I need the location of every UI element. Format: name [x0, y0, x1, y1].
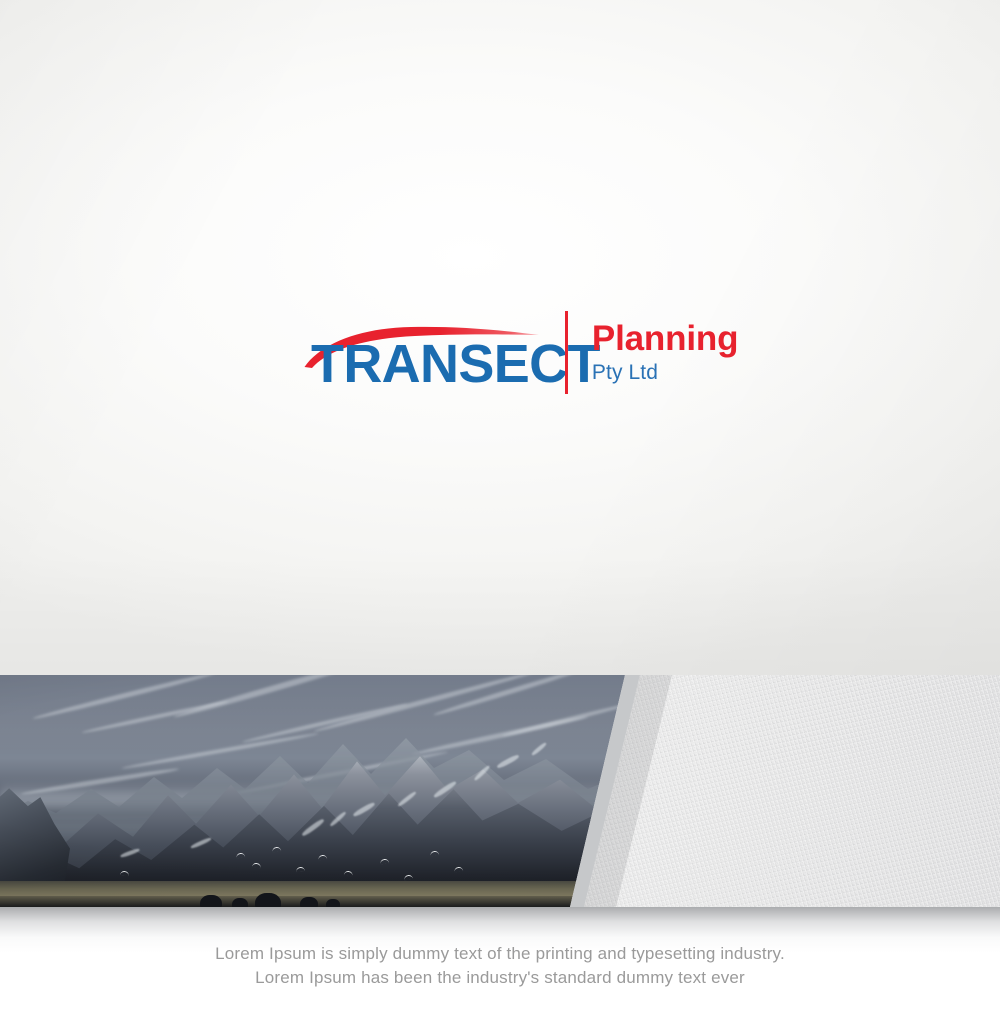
logo-subtext-block: Planning Pty Ltd: [592, 321, 738, 384]
logo-text-pty-ltd: Pty Ltd: [592, 361, 738, 384]
caption-line-1: Lorem Ipsum is simply dummy text of the …: [0, 942, 1000, 966]
hero-logo-panel: TRANSECT Planning Pty Ltd: [0, 0, 1000, 675]
logo-divider-rule: [565, 311, 568, 394]
logo-text-planning: Planning: [592, 321, 738, 357]
banner-showcase: TRANSECT Planning Pty Ltd: [0, 675, 1000, 907]
logo-wordmark: TRANSECT: [305, 325, 545, 387]
caption-block: Lorem Ipsum is simply dummy text of the …: [0, 942, 1000, 990]
presentation-page: TRANSECT Planning Pty Ltd: [0, 0, 1000, 1010]
caption-line-2: Lorem Ipsum has been the industry's stan…: [0, 966, 1000, 990]
logo-text-transect: TRANSECT: [311, 337, 600, 391]
primary-logo-lockup: TRANSECT Planning Pty Ltd: [305, 314, 738, 397]
